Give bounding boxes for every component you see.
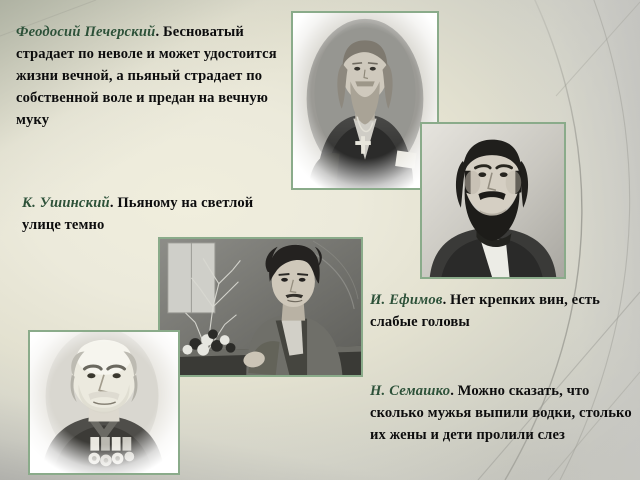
photo-ushinsky-image [422,124,564,277]
photo-efimov-image [160,239,361,375]
quote-author-semashko: Н. Семашко [370,383,450,399]
photo-konstantin-ushinsky [420,122,566,279]
quote-block-semashko: Н. Семашко. Можно сказать, что сколько м… [370,381,632,447]
quote-author-ushinsky: К. Ушинский [22,195,110,211]
quote-author-feodosiy: Феодосий Печерский [16,24,155,40]
quote-block-feodosiy: Феодосий Печерский. Бесноватый страдает … [16,22,278,131]
photo-feodosiy-image [293,13,437,188]
photo-nikolai-semashko [28,330,180,475]
quote-block-efimov: И. Ефимов. Нет крепких вин, есть слабые … [370,290,632,334]
presentation-slide: Феодосий Печерский. Бесноватый страдает … [0,0,640,480]
photo-feodosiy-pechersky [291,11,439,190]
photo-i-efimov [158,237,363,377]
quote-block-ushinsky: К. Ушинский. Пьяному на светлой улице те… [22,193,272,237]
quote-author-efimov: И. Ефимов [370,292,443,308]
photo-semashko-image [30,332,178,473]
